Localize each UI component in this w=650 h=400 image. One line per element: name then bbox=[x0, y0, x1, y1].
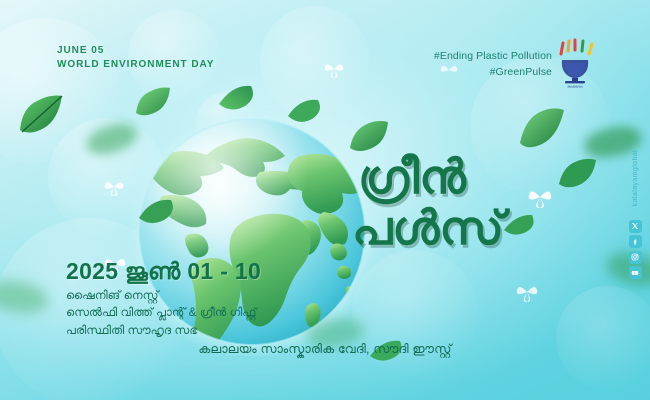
facebook-icon[interactable] bbox=[629, 235, 642, 248]
leaf-blur-decoration bbox=[0, 277, 50, 317]
logo-caption: കലാലയം bbox=[567, 85, 583, 89]
social-rail: kalalayamglobal bbox=[624, 150, 646, 282]
bokeh-circle bbox=[0, 18, 120, 168]
butterfly-icon bbox=[324, 60, 344, 78]
program-item: ഷൈനിങ് നെസ്റ്റ് bbox=[66, 288, 257, 305]
event-dates: 2025 ജൂൺ 01 - 10 bbox=[66, 258, 261, 285]
butterfly-icon bbox=[516, 282, 538, 302]
youtube-icon[interactable] bbox=[629, 266, 642, 279]
instagram-icon[interactable] bbox=[629, 251, 642, 264]
title-line-2: പൾസ് bbox=[352, 203, 608, 254]
event-header: JUNE 05 WORLD ENVIRONMENT DAY bbox=[57, 44, 214, 71]
program-item: പരിസ്ഥിതി സൗഹൃദ സഭ bbox=[66, 323, 257, 340]
bokeh-circle bbox=[556, 286, 650, 390]
bokeh-circle bbox=[260, 6, 370, 116]
butterfly-icon bbox=[104, 178, 124, 196]
social-handle: kalalayamglobal bbox=[632, 150, 639, 206]
leaf-icon bbox=[16, 92, 68, 136]
kalalayam-logo: കലാലയം bbox=[549, 38, 601, 90]
title-line-1: ഗ്രീൻ bbox=[358, 150, 466, 203]
organizer-name: കലാലയം സാംസ്കാരിക വേദി, സൗദി ഈസ്റ്റ് bbox=[0, 342, 650, 357]
event-title-label: WORLD ENVIRONMENT DAY bbox=[57, 58, 214, 72]
poster-canvas: JUNE 05 WORLD ENVIRONMENT DAY #Ending Pl… bbox=[0, 0, 650, 400]
program-list: ഷൈനിങ് നെസ്റ്റ് സെൽഫി വിത്ത് പ്ലാന്റ് & … bbox=[66, 288, 257, 340]
twitter-icon[interactable] bbox=[629, 220, 642, 233]
hashtag-line-1: #Ending Plastic Pollution bbox=[434, 48, 552, 64]
poster-main-title: ഗ്രീൻ പൾസ് bbox=[358, 152, 608, 254]
hashtag-block: #Ending Plastic Pollution #GreenPulse bbox=[434, 48, 552, 81]
program-item: സെൽഫി വിത്ത് പ്ലാന്റ് & ഗ്രീൻ ഗിഫ്റ്റ് bbox=[66, 305, 257, 322]
event-date-label: JUNE 05 bbox=[57, 44, 214, 58]
hashtag-line-2: #GreenPulse bbox=[434, 64, 552, 80]
